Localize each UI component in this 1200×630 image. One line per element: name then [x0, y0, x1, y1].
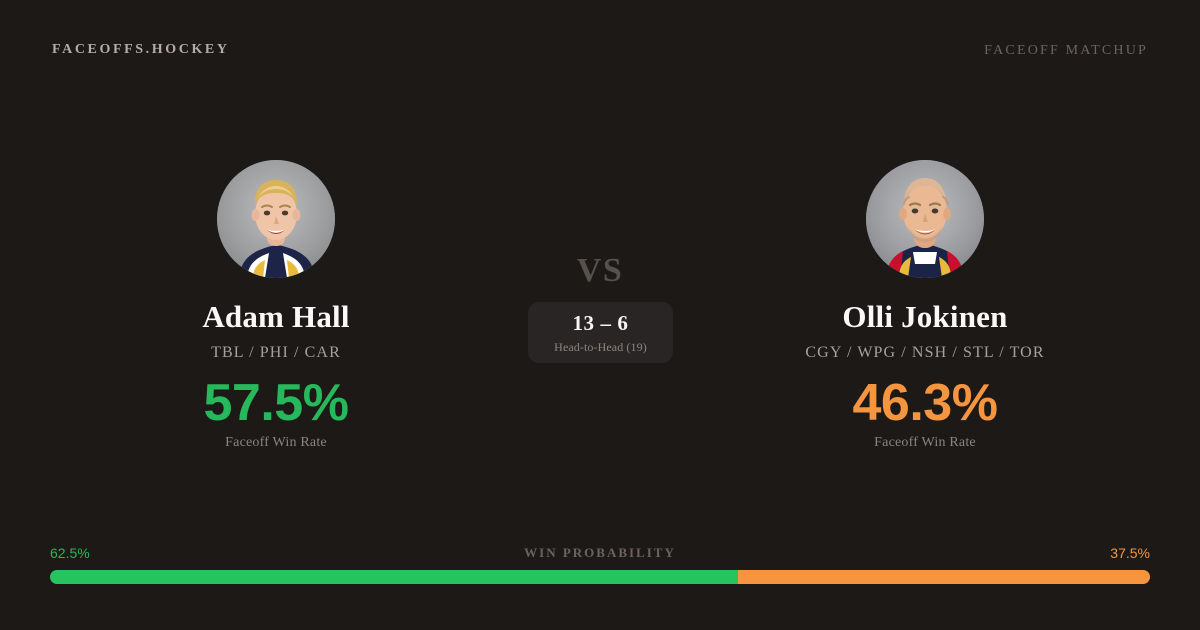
player-teams: CGY / WPG / NSH / STL / TOR [715, 344, 1135, 362]
win-probability-fill-right [738, 570, 1151, 584]
player-name: Olli Jokinen [715, 301, 1135, 334]
win-probability-bar [50, 570, 1150, 584]
win-probability-row: 62.5% WIN PROBABILITY 37.5% [50, 544, 1150, 562]
page-kicker: FACEOFF MATCHUP [984, 43, 1148, 59]
player-teams: TBL / PHI / CAR [66, 344, 486, 362]
player-name: Adam Hall [66, 301, 486, 334]
faceoff-win-rate-label: Faceoff Win Rate [66, 435, 486, 451]
head-to-head-label: Head-to-Head (19) [554, 341, 647, 353]
site-brand: FACEOFFS.HOCKEY [52, 42, 230, 58]
win-probability-right-value: 37.5% [1110, 544, 1150, 562]
player-panel-right: Olli Jokinen CGY / WPG / NSH / STL / TOR… [715, 160, 1135, 451]
faceoff-win-rate-value: 46.3% [715, 376, 1135, 431]
win-probability-fill-left [50, 570, 738, 584]
faceoff-matchup-card: FACEOFFS.HOCKEY FACEOFF MATCHUP [0, 0, 1200, 630]
player-panel-left: Adam Hall TBL / PHI / CAR 57.5% Faceoff … [66, 160, 486, 451]
head-to-head-score: 13 – 6 [572, 313, 628, 334]
faceoff-win-rate-value: 57.5% [66, 376, 486, 431]
head-to-head-card: 13 – 6 Head-to-Head (19) [528, 302, 673, 363]
faceoff-win-rate-label: Faceoff Win Rate [715, 435, 1135, 451]
vs-label: VS [0, 252, 1200, 290]
win-probability-title: WIN PROBABILITY [50, 544, 1150, 562]
